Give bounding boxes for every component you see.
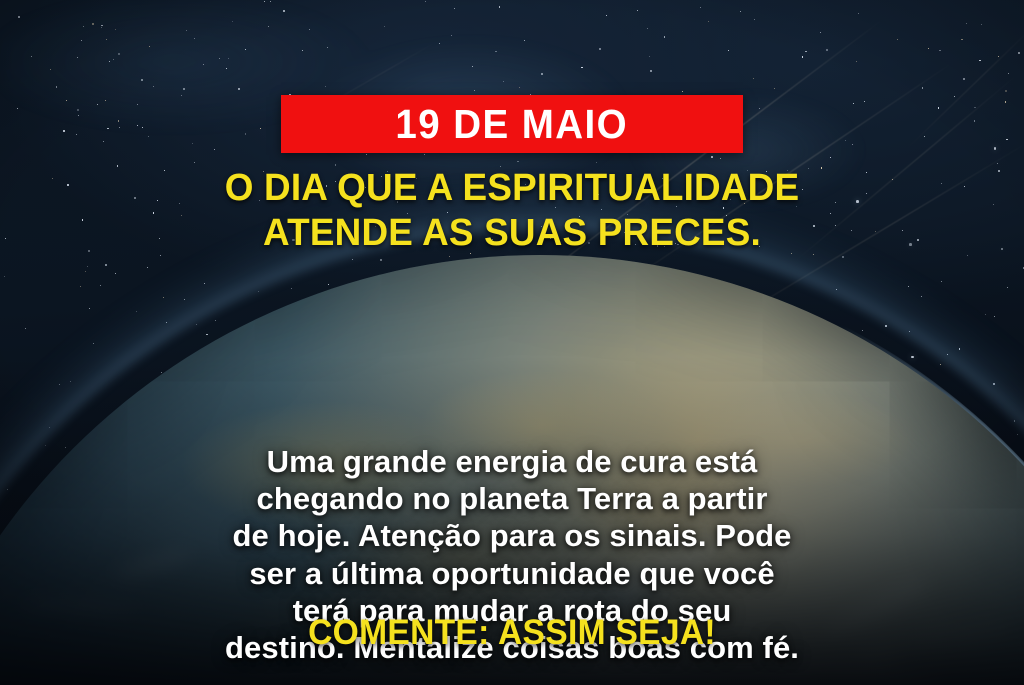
date-banner-label: 19 DE MAIO: [396, 104, 629, 145]
body-line-2: chegando no planeta Terra a partir: [46, 480, 978, 517]
headline-line-1: O DIA QUE A ESPIRITUALIDADE: [15, 166, 1008, 211]
headline-line-2: ATENDE AS SUAS PRECES.: [15, 211, 1008, 256]
call-to-action: COMENTE: ASSIM SEJA!: [20, 613, 1003, 653]
date-banner: 19 DE MAIO: [281, 95, 743, 153]
poster-content: 19 DE MAIO O DIA QUE A ESPIRITUALIDADE A…: [0, 0, 1024, 685]
body-line-3: de hoje. Atenção para os sinais. Pode: [46, 517, 978, 554]
headline: O DIA QUE A ESPIRITUALIDADE ATENDE AS SU…: [15, 166, 1008, 256]
body-line-1: Uma grande energia de cura está: [46, 443, 978, 480]
poster-image: 19 DE MAIO O DIA QUE A ESPIRITUALIDADE A…: [0, 0, 1024, 685]
body-line-4: ser a última oportunidade que você: [46, 555, 978, 592]
call-to-action-label: COMENTE: ASSIM SEJA!: [308, 613, 716, 652]
